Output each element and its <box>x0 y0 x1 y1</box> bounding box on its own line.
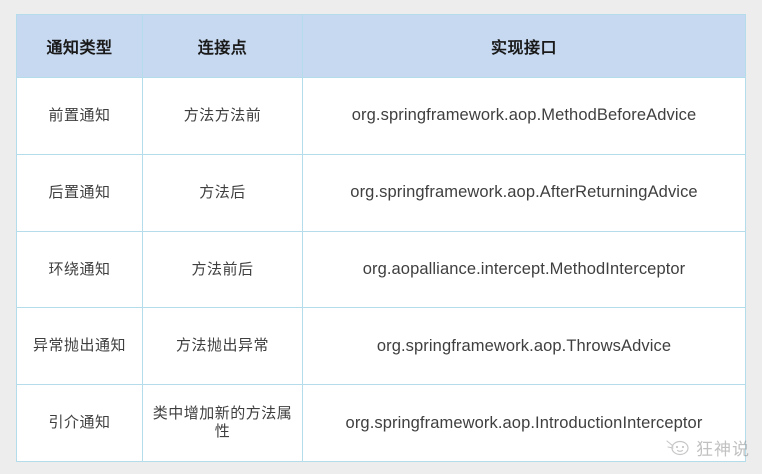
spring-aop-advice-table: 通知类型 连接点 实现接口 前置通知 方法方法前 org.springframe… <box>16 14 746 462</box>
table-row: 异常抛出通知 方法抛出异常 org.springframework.aop.Th… <box>17 308 746 385</box>
cell-advice-type: 后置通知 <box>17 154 143 231</box>
cell-advice-type: 异常抛出通知 <box>17 308 143 385</box>
cell-interface: org.springframework.aop.MethodBeforeAdvi… <box>303 78 746 155</box>
cell-interface: org.springframework.aop.IntroductionInte… <box>303 385 746 462</box>
cell-advice-type: 环绕通知 <box>17 231 143 308</box>
column-header-interface: 实现接口 <box>303 15 746 78</box>
cell-interface: org.springframework.aop.AfterReturningAd… <box>303 154 746 231</box>
cell-join-point: 方法方法前 <box>143 78 303 155</box>
column-header-advice-type: 通知类型 <box>17 15 143 78</box>
column-header-join-point: 连接点 <box>143 15 303 78</box>
table-row: 环绕通知 方法前后 org.aopalliance.intercept.Meth… <box>17 231 746 308</box>
table-body: 前置通知 方法方法前 org.springframework.aop.Metho… <box>17 78 746 462</box>
cell-advice-type: 前置通知 <box>17 78 143 155</box>
cell-advice-type: 引介通知 <box>17 385 143 462</box>
cell-join-point: 方法前后 <box>143 231 303 308</box>
table-row: 后置通知 方法后 org.springframework.aop.AfterRe… <box>17 154 746 231</box>
cell-join-point: 方法抛出异常 <box>143 308 303 385</box>
table-row: 引介通知 类中增加新的方法属性 org.springframework.aop.… <box>17 385 746 462</box>
cell-interface: org.aopalliance.intercept.MethodIntercep… <box>303 231 746 308</box>
table-header-row: 通知类型 连接点 实现接口 <box>17 15 746 78</box>
cell-join-point: 类中增加新的方法属性 <box>143 385 303 462</box>
advice-table-container: 通知类型 连接点 实现接口 前置通知 方法方法前 org.springframe… <box>16 14 745 462</box>
table-row: 前置通知 方法方法前 org.springframework.aop.Metho… <box>17 78 746 155</box>
cell-interface: org.springframework.aop.ThrowsAdvice <box>303 308 746 385</box>
table-header: 通知类型 连接点 实现接口 <box>17 15 746 78</box>
cell-join-point: 方法后 <box>143 154 303 231</box>
